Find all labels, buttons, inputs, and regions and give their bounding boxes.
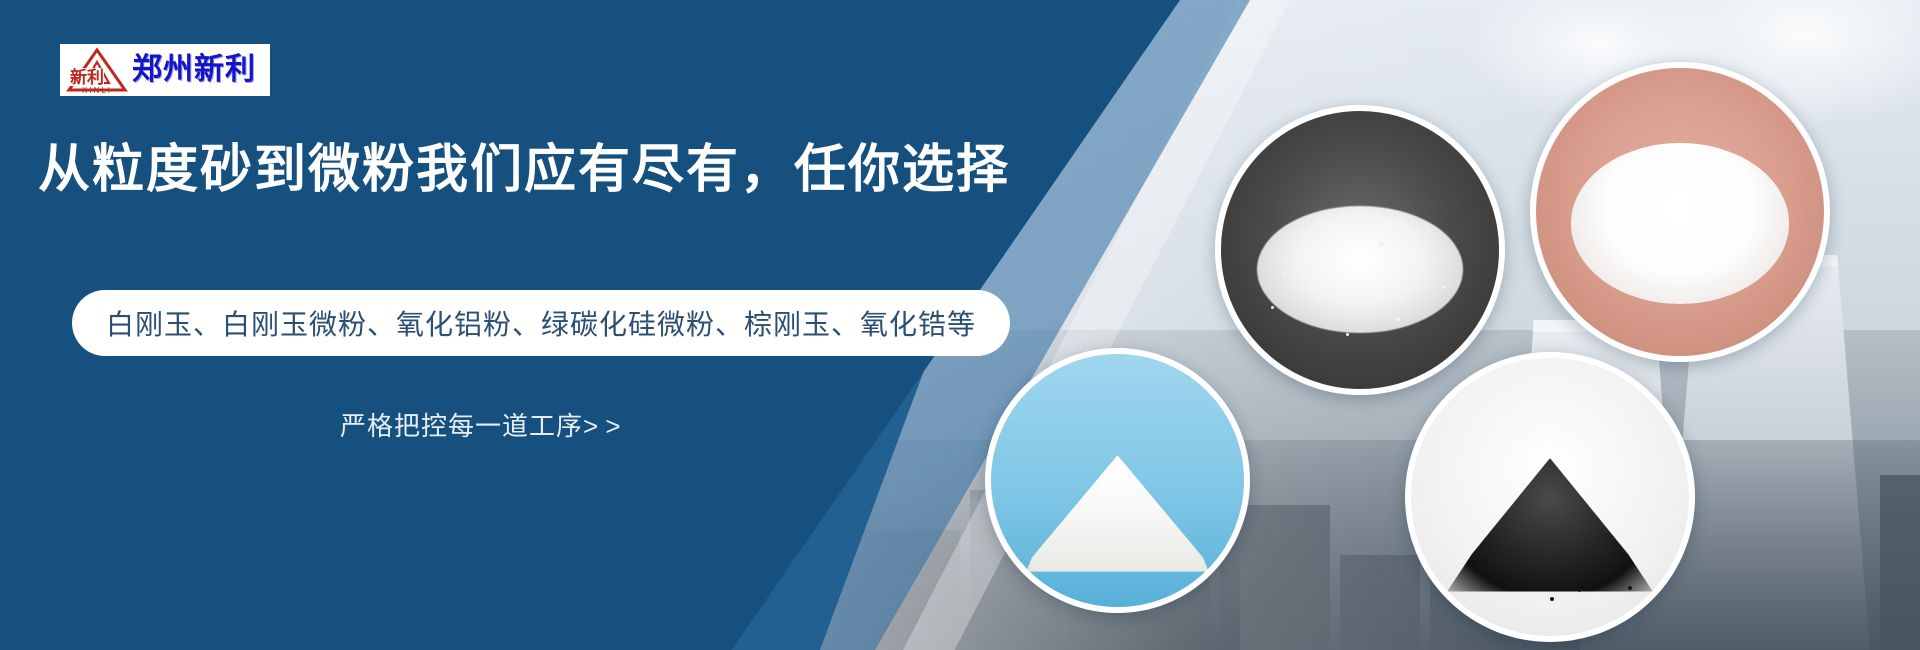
product-list-text: 白刚玉、白刚玉微粉、氧化铝粉、绿碳化硅微粉、棕刚玉、氧化锆等 — [106, 303, 976, 343]
product-photo-white-grit — [1215, 105, 1505, 395]
product-photo-powder-cone — [985, 348, 1250, 613]
cta-arrows-icon: > > — [583, 411, 621, 441]
powder-heap — [1571, 143, 1790, 304]
granule-pile — [1447, 458, 1653, 591]
cta-label: 严格把控每一道工序 — [340, 411, 583, 441]
company-logo[interactable]: 新利 XINLI 郑州新利 — [60, 44, 270, 96]
product-list-pill: 白刚玉、白刚玉微粉、氧化铝粉、绿碳化硅微粉、棕刚玉、氧化锆等 — [72, 290, 1010, 356]
headline: 从粒度砂到微粉我们应有尽有，任你选择 — [38, 142, 1010, 199]
svg-text:XINLI: XINLI — [82, 86, 112, 94]
product-photo-black-granules — [1405, 352, 1695, 642]
powder-heap — [1257, 206, 1463, 334]
svg-text:新利: 新利 — [70, 67, 104, 88]
cta-link[interactable]: 严格把控每一道工序> > — [340, 406, 621, 443]
promo-banner: 新利 XINLI 郑州新利 从粒度砂到微粉我们应有尽有，任你选择 白刚玉、白刚玉… — [0, 0, 1920, 650]
company-name-text: 郑州新利 — [132, 55, 256, 85]
xinli-triangle-icon: 新利 XINLI — [66, 46, 128, 94]
powder-cone — [1026, 455, 1208, 571]
product-photo-white-powder — [1530, 62, 1830, 362]
